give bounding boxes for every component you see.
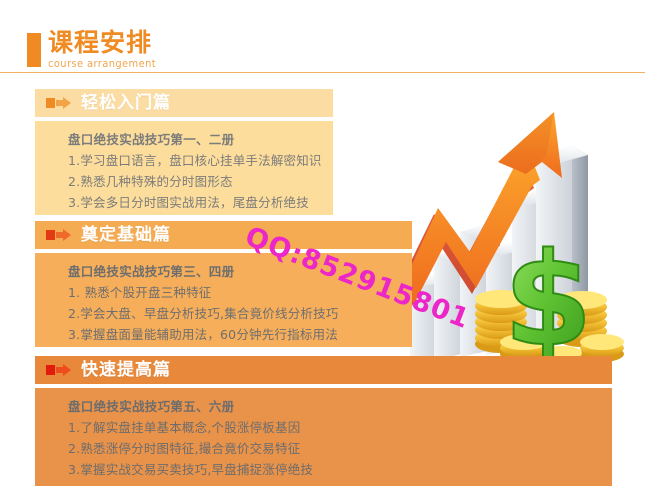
section-item-1-1: 1.学习盘口语言，盘口核心挂单手法解密知识 xyxy=(35,150,333,171)
section-header-bar-2[interactable]: 奠定基础篇 xyxy=(35,221,412,249)
section-item-2-3: 3.掌握盘面量能辅助用法，60分钟先行指标用法 xyxy=(35,324,412,345)
orange-square-marker-icon xyxy=(27,33,41,67)
section-item-2-2: 2.学会大盘、早盘分析技巧,集合竟价线分析技巧 xyxy=(35,303,412,324)
section-lead-2: 盘口绝技实战技巧第三、四册 xyxy=(35,253,412,282)
slide-canvas: 课程安排 course arrangement xyxy=(0,0,645,488)
growth-chart-illustration: $ xyxy=(376,96,645,396)
section-lead-1: 盘口绝技实战技巧第一、二册 xyxy=(35,121,333,150)
section-item-1-2: 2.熟悉几种特殊的分时图形态 xyxy=(35,171,333,192)
page-header: 课程安排 course arrangement xyxy=(0,0,645,76)
section-lead-3: 盘口绝技实战技巧第五、六册 xyxy=(35,388,612,417)
section-body-2: 盘口绝技实战技巧第三、四册 1. 熟悉个股开盘三种特征 2.学会大盘、早盘分析技… xyxy=(35,253,412,347)
course-section-1: 轻松入门篇 盘口绝技实战技巧第一、二册 1.学习盘口语言，盘口核心挂单手法解密知… xyxy=(35,89,333,215)
section-item-1-3: 3.学会多日分时图实战用法，尾盘分析绝技 xyxy=(35,192,333,213)
section-item-3-1: 1.了解实盘挂单基本概念,个股涨停板基因 xyxy=(35,417,612,438)
header-divider xyxy=(0,72,645,73)
page-title: 课程安排 xyxy=(48,28,152,57)
section-title-2: 奠定基础篇 xyxy=(81,223,171,247)
section-item-3-3: 3.掌握实战交易买卖技巧,早盘捕捉涨停绝技 xyxy=(35,459,612,480)
section-body-3: 盘口绝技实战技巧第五、六册 1.了解实盘挂单基本概念,个股涨停板基因 2.熟悉涨… xyxy=(35,388,612,486)
pointing-hand-icon xyxy=(46,96,72,110)
section-item-3-2: 2.熟悉涨停分时图特征,撮合竟价交易特征 xyxy=(35,438,612,459)
course-section-3: 快速提高篇 盘口绝技实战技巧第五、六册 1.了解实盘挂单基本概念,个股涨停板基因… xyxy=(35,356,612,486)
page-subtitle: course arrangement xyxy=(48,57,156,70)
pointing-hand-icon xyxy=(46,363,72,377)
section-title-3: 快速提高篇 xyxy=(81,358,171,382)
section-body-1: 盘口绝技实战技巧第一、二册 1.学习盘口语言，盘口核心挂单手法解密知识 2.熟悉… xyxy=(35,121,333,215)
course-section-2: 奠定基础篇 盘口绝技实战技巧第三、四册 1. 熟悉个股开盘三种特征 2.学会大盘… xyxy=(35,221,412,347)
section-item-2-1: 1. 熟悉个股开盘三种特征 xyxy=(35,282,412,303)
section-title-1: 轻松入门篇 xyxy=(81,91,171,115)
green-dollar-sign: $ xyxy=(503,226,592,375)
section-header-bar-3[interactable]: 快速提高篇 xyxy=(35,356,612,384)
svg-text:$: $ xyxy=(503,226,592,375)
pointing-hand-icon xyxy=(46,228,72,242)
section-header-bar-1[interactable]: 轻松入门篇 xyxy=(35,89,333,117)
